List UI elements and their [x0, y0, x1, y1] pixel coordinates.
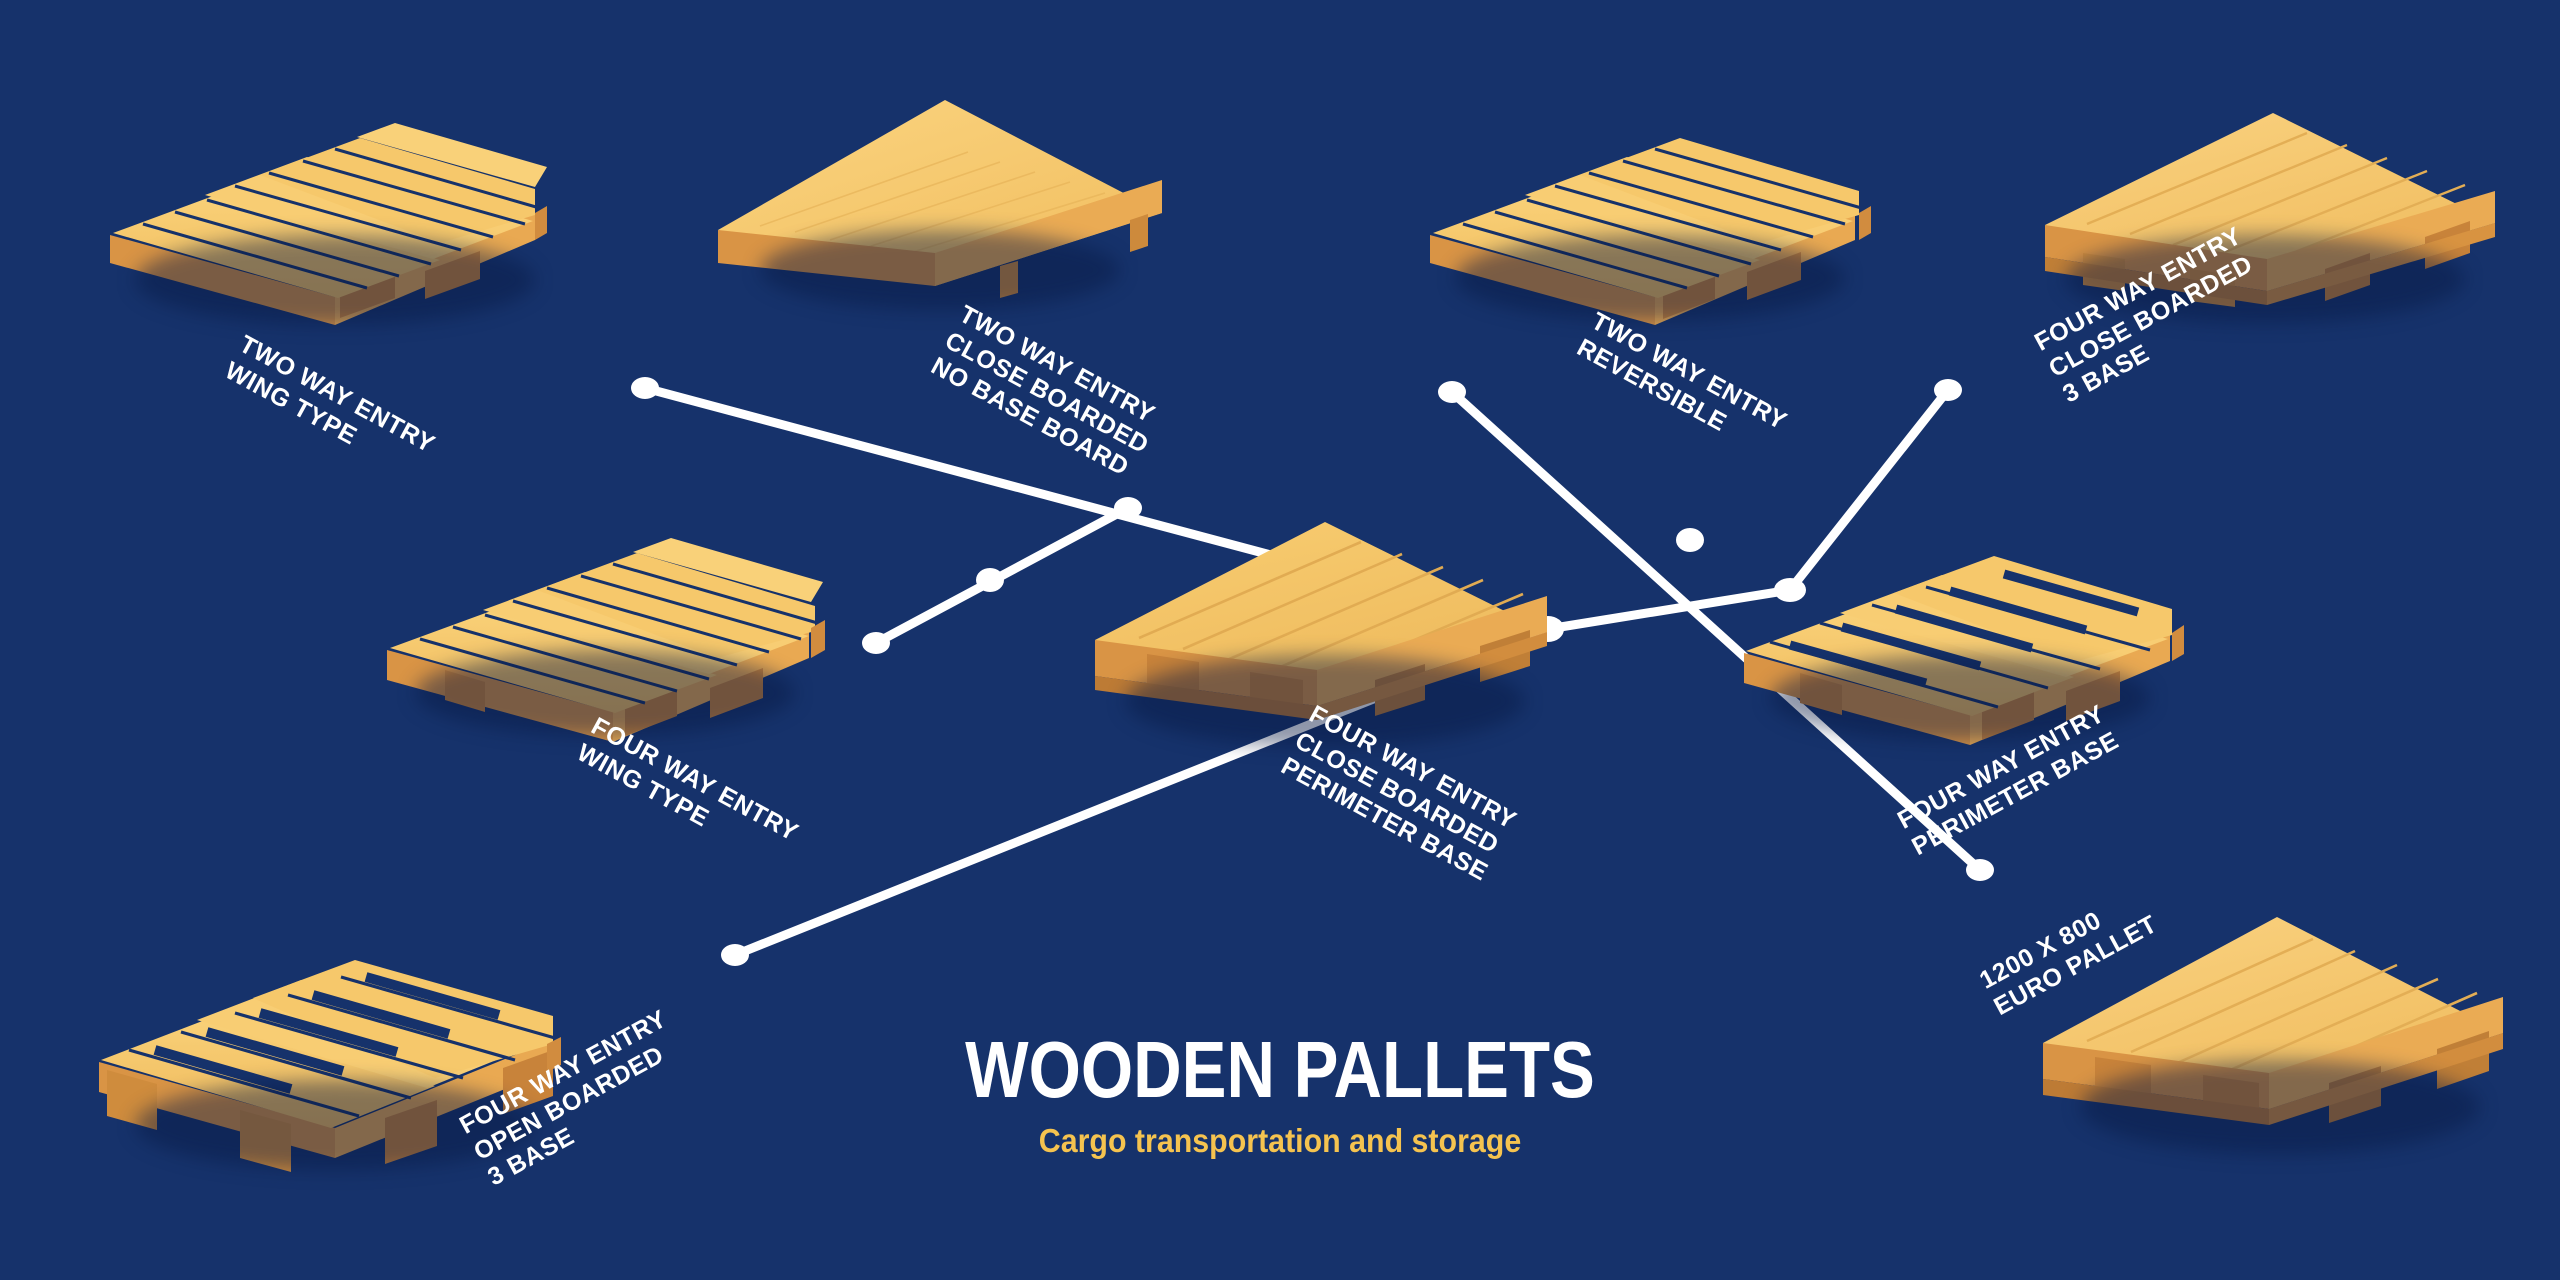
pallet-shadow [1770, 655, 2150, 741]
pallet-two-way-entry-close-boarded-no-base-board[interactable] [700, 80, 1180, 320]
pallet-shadow [1455, 235, 1845, 321]
pallet-four-way-entry-perimeter-base[interactable] [1730, 505, 2200, 755]
page-title: WOODEN PALLETS [902, 1030, 1658, 1110]
pallet-shadow [415, 650, 795, 736]
pallet-shadow [135, 1080, 535, 1170]
connector-node-6 [1934, 379, 1962, 401]
pallet-shadow [2080, 1060, 2480, 1154]
pallet-euro-1200x800[interactable] [2025, 885, 2530, 1165]
connector-junction-right [1676, 528, 1704, 552]
pallet-shadow [2065, 235, 2465, 323]
connector-node-1 [631, 377, 659, 399]
connector-node-8 [1966, 859, 1994, 881]
infographic-canvas: TWO WAY ENTRY WING TYPE [0, 0, 2560, 1280]
pallet-shadow [135, 235, 535, 325]
connector-junction-left [976, 568, 1004, 592]
connector-node-4 [721, 944, 749, 966]
pallet-four-way-entry-close-boarded-3-base[interactable] [2025, 95, 2515, 345]
pallet-four-way-entry-open-boarded-3-base[interactable] [85, 920, 585, 1180]
pallet-shadow [1125, 655, 1525, 747]
connector-node-2 [862, 632, 890, 654]
pallet-shadow [760, 230, 1120, 310]
pallet-four-way-entry-close-boarded-perimeter-base[interactable] [1075, 500, 1565, 760]
connector-node-5 [1438, 381, 1466, 403]
pallet-four-way-entry-wing-type[interactable] [375, 500, 835, 750]
pallet-two-way-entry-reversible[interactable] [1415, 85, 1885, 335]
pallet-two-way-entry-wing-type[interactable] [95, 85, 565, 335]
title-block: WOODEN PALLETS Cargo transportation and … [830, 1030, 1730, 1160]
page-subtitle: Cargo transportation and storage [866, 1122, 1694, 1160]
